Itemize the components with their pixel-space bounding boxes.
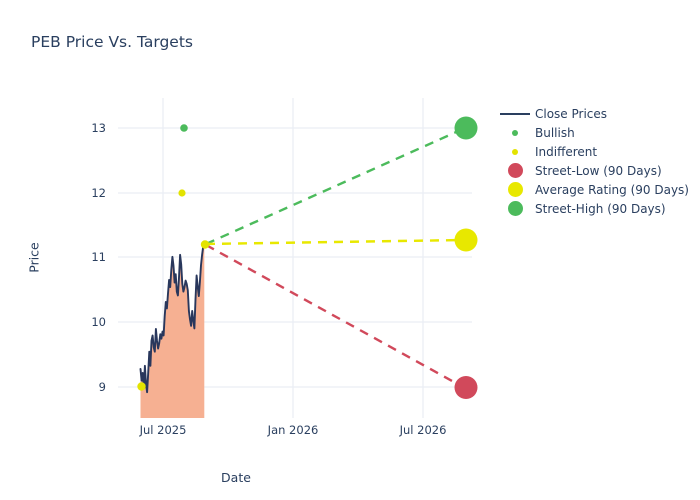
legend-label: Indifferent — [533, 145, 597, 159]
x-tick-label: Jul 2026 — [378, 423, 468, 437]
legend-label: Street-Low (90 Days) — [533, 164, 662, 178]
dot-icon — [497, 182, 533, 197]
legend-item-close-prices[interactable]: Close Prices — [497, 104, 697, 123]
average-rating-projection — [206, 240, 463, 244]
x-axis-title: Date — [0, 470, 472, 485]
legend-item-indifferent[interactable]: Indifferent — [497, 142, 697, 161]
y-tick-label: 10 — [66, 315, 106, 329]
legend-item-average-rating[interactable]: Average Rating (90 Days) — [497, 180, 697, 199]
legend-item-street-low[interactable]: Street-Low (90 Days) — [497, 161, 697, 180]
street-high-projection — [206, 129, 463, 244]
legend-label: Bullish — [533, 126, 575, 140]
chart-container: PEB Price Vs. Targets 1 — [0, 0, 700, 500]
y-tick-label: 12 — [66, 186, 106, 200]
legend-item-bullish[interactable]: Bullish — [497, 123, 697, 142]
chart-legend: Close Prices Bullish Indifferent Street-… — [497, 104, 697, 218]
x-tick-label: Jan 2026 — [248, 423, 338, 437]
indifferent-point — [178, 189, 185, 196]
legend-label: Close Prices — [533, 107, 607, 121]
legend-item-street-high[interactable]: Street-High (90 Days) — [497, 199, 697, 218]
street-low-projection — [206, 245, 463, 387]
y-axis-title: Price — [27, 218, 42, 298]
y-tick-label: 13 — [66, 121, 106, 135]
chart-title: PEB Price Vs. Targets — [31, 33, 193, 51]
y-tick-label: 9 — [66, 380, 106, 394]
street-high-marker — [455, 117, 478, 140]
indifferent-point — [201, 240, 209, 248]
legend-label: Average Rating (90 Days) — [533, 183, 689, 197]
dot-icon — [497, 130, 533, 136]
legend-label: Street-High (90 Days) — [533, 202, 666, 216]
close-price-area — [141, 245, 205, 418]
line-icon — [497, 113, 533, 115]
street-low-marker — [455, 376, 478, 399]
dot-icon — [497, 163, 533, 178]
indifferent-point — [137, 382, 145, 390]
dot-icon — [497, 149, 533, 155]
x-tick-label: Jul 2025 — [118, 423, 208, 437]
average-rating-marker — [455, 229, 478, 252]
dot-icon — [497, 201, 533, 216]
bullish-point — [180, 124, 188, 132]
y-tick-label: 11 — [66, 250, 106, 264]
